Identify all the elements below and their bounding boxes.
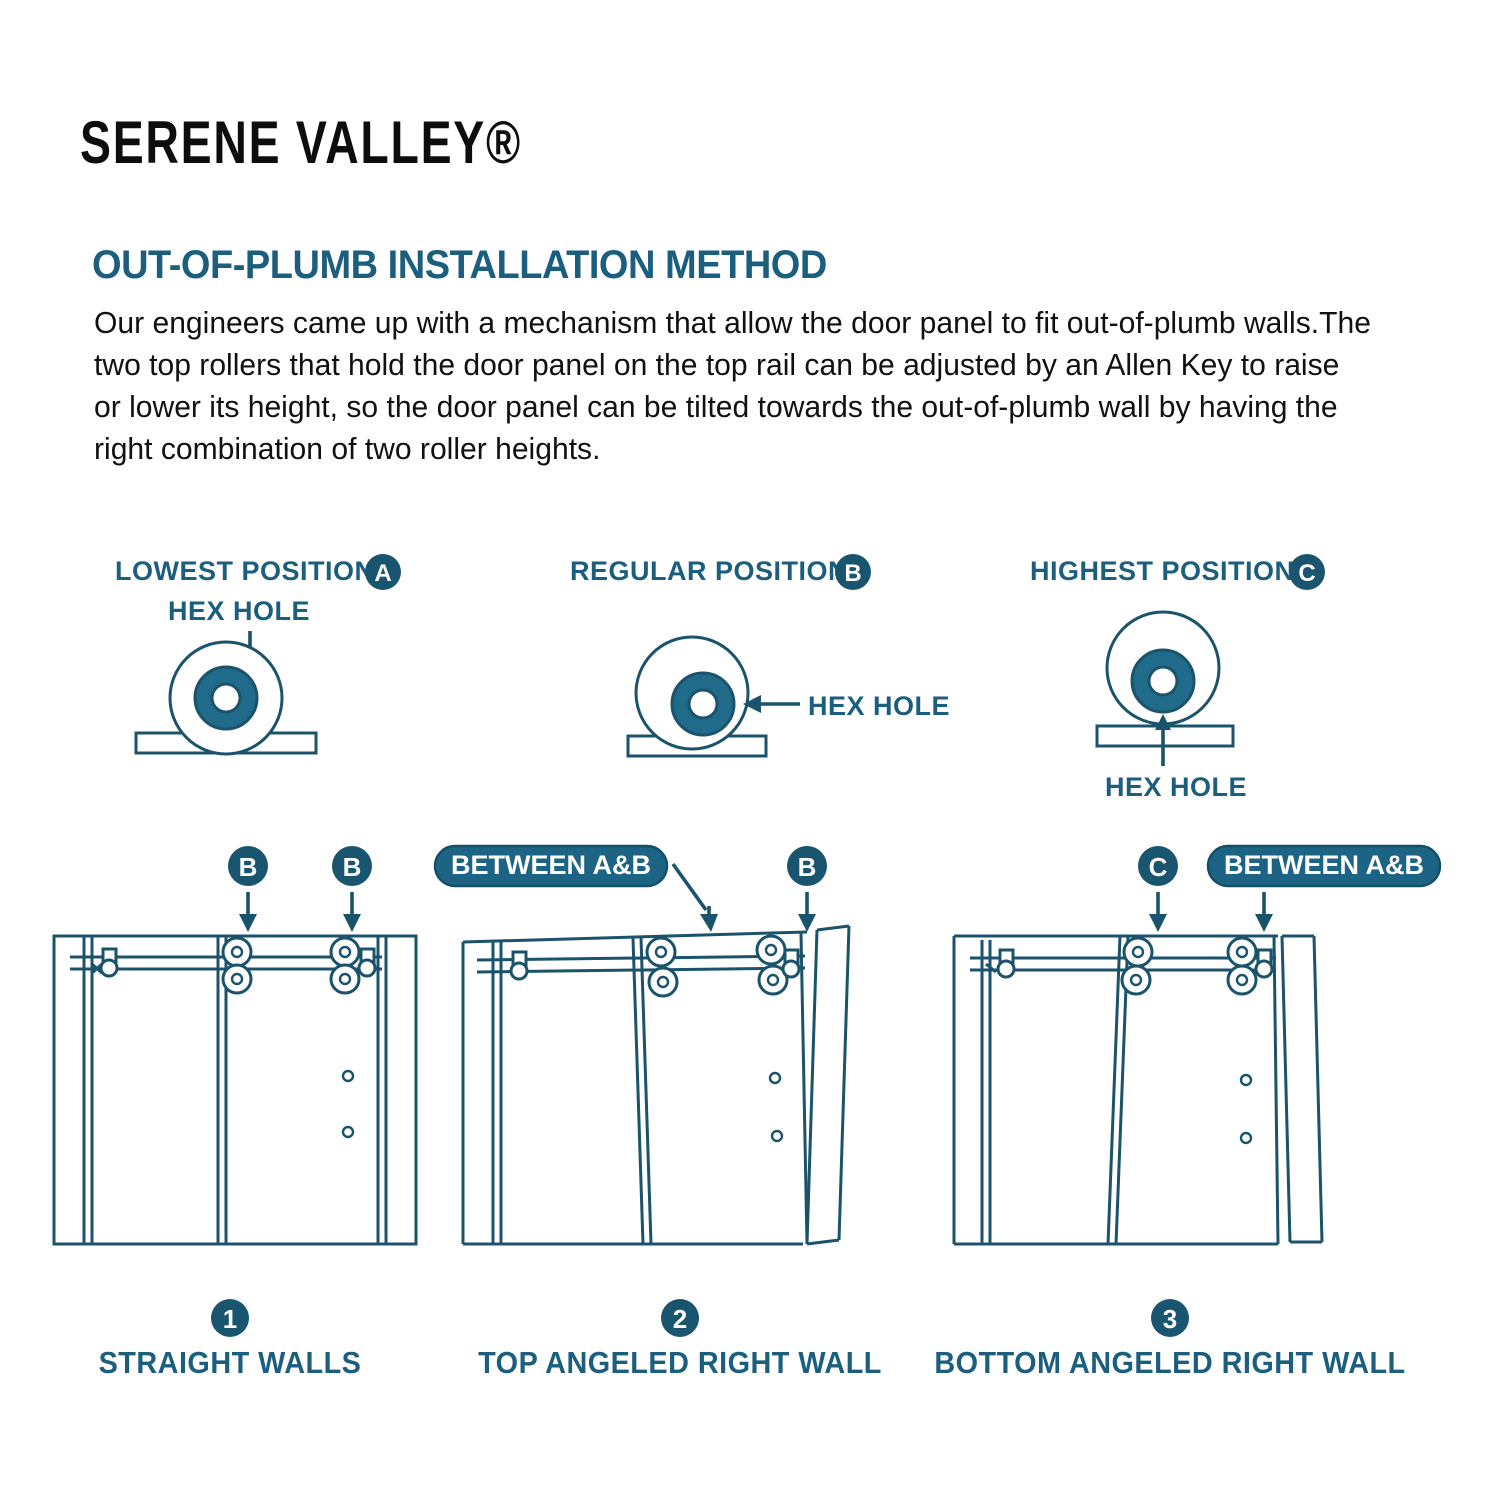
number-badge-3: 3 bbox=[1147, 1295, 1193, 1341]
marker-pill-between-ab-2: BETWEEN A&B bbox=[435, 846, 718, 932]
stopper-bracket-left-1 bbox=[92, 949, 117, 976]
marker-label-2-1: B bbox=[798, 852, 817, 882]
marker-badge-c-3: C bbox=[1138, 846, 1178, 932]
number-badge-2-text: 2 bbox=[673, 1304, 687, 1334]
brand-logo: SERENE VALLEY® bbox=[80, 108, 522, 177]
badge-c-letter: C bbox=[1298, 560, 1315, 587]
handle-hole-lower-3 bbox=[1241, 1133, 1251, 1143]
hex-hub-a bbox=[195, 667, 257, 729]
caption-block-1: 1 STRAIGHT WALLS bbox=[30, 1295, 430, 1381]
marker-label-3-1: BETWEEN A&B bbox=[1224, 850, 1424, 880]
marker-badge-b-2: B bbox=[787, 846, 827, 932]
caption-text-2: TOP ANGELED RIGHT WALL bbox=[457, 1345, 903, 1381]
handle-hole-upper-2 bbox=[770, 1073, 780, 1083]
number-badge-2: 2 bbox=[657, 1295, 703, 1341]
stopper-bracket-right-3 bbox=[1256, 950, 1272, 977]
marker-label-3-0: C bbox=[1149, 852, 1168, 882]
hex-hole-label-b: HEX HOLE bbox=[808, 691, 950, 721]
badge-a: A bbox=[365, 554, 401, 590]
handle-hole-upper-1 bbox=[343, 1071, 353, 1081]
roller-pair-right-1 bbox=[331, 938, 359, 993]
hex-hole-label-c: HEX HOLE bbox=[1105, 772, 1247, 802]
handle-hole-upper-3 bbox=[1241, 1075, 1251, 1085]
caption-text-1: STRAIGHT WALLS bbox=[44, 1345, 416, 1381]
caption-block-3: 3 BOTTOM ANGELED RIGHT WALL bbox=[900, 1295, 1440, 1381]
roller-pair-left-2 bbox=[647, 938, 677, 996]
handle-hole-lower-2 bbox=[772, 1131, 782, 1141]
hex-hole-label-a: HEX HOLE bbox=[168, 596, 310, 626]
badge-c: C bbox=[1289, 554, 1325, 590]
roller-diagram-highest: HIGHEST POSITION C HEX HOLE bbox=[1025, 548, 1365, 808]
roller-pair-right-3 bbox=[1228, 938, 1256, 994]
hex-hub-b bbox=[672, 673, 734, 735]
marker-pill-between-ab-3: BETWEEN A&B bbox=[1208, 846, 1440, 932]
marker-label-1-1: B bbox=[343, 852, 362, 882]
caption-block-2: 2 TOP ANGELED RIGHT WALL bbox=[440, 1295, 920, 1381]
door-diagram-straight-walls: B B bbox=[30, 840, 450, 1280]
caption-text-3: BOTTOM ANGELED RIGHT WALL bbox=[919, 1345, 1421, 1381]
body-paragraph: Our engineers came up with a mechanism t… bbox=[94, 302, 1374, 470]
marker-label-2-0: BETWEEN A&B bbox=[451, 850, 651, 880]
marker-label-1-0: B bbox=[239, 852, 258, 882]
door-diagram-bottom-angled-right-wall: C BETWEEN A&B bbox=[930, 840, 1450, 1280]
roller-c-title: HIGHEST POSITION bbox=[1030, 556, 1295, 586]
stopper-bracket-right-1 bbox=[359, 949, 375, 976]
number-badge-1: 1 bbox=[207, 1295, 253, 1341]
roller-diagram-lowest: LOWEST POSITION A HEX HOLE bbox=[110, 548, 440, 778]
handle-hole-lower-1 bbox=[343, 1127, 353, 1137]
badge-b-letter: B bbox=[844, 560, 861, 587]
badge-b: B bbox=[835, 554, 871, 590]
hex-hub-c bbox=[1132, 650, 1194, 712]
roller-b-title: REGULAR POSITION bbox=[570, 556, 848, 586]
arrow-left-icon-b bbox=[743, 695, 800, 713]
badge-a-letter: A bbox=[374, 560, 391, 587]
stopper-bracket-right-2 bbox=[783, 950, 799, 977]
number-badge-3-text: 3 bbox=[1163, 1304, 1177, 1334]
number-badge-1-text: 1 bbox=[223, 1304, 237, 1334]
stopper-bracket-left-2 bbox=[511, 952, 527, 979]
marker-badge-b-right-1: B bbox=[332, 846, 372, 932]
marker-badge-b-left-1: B bbox=[228, 846, 268, 932]
roller-diagram-regular: REGULAR POSITION B HEX HOLE bbox=[565, 548, 985, 778]
door-diagram-top-angled-right-wall: BETWEEN A&B B bbox=[425, 840, 895, 1280]
page-title: OUT-OF-PLUMB INSTALLATION METHOD bbox=[92, 243, 827, 288]
roller-a-title: LOWEST POSITION bbox=[115, 556, 375, 586]
